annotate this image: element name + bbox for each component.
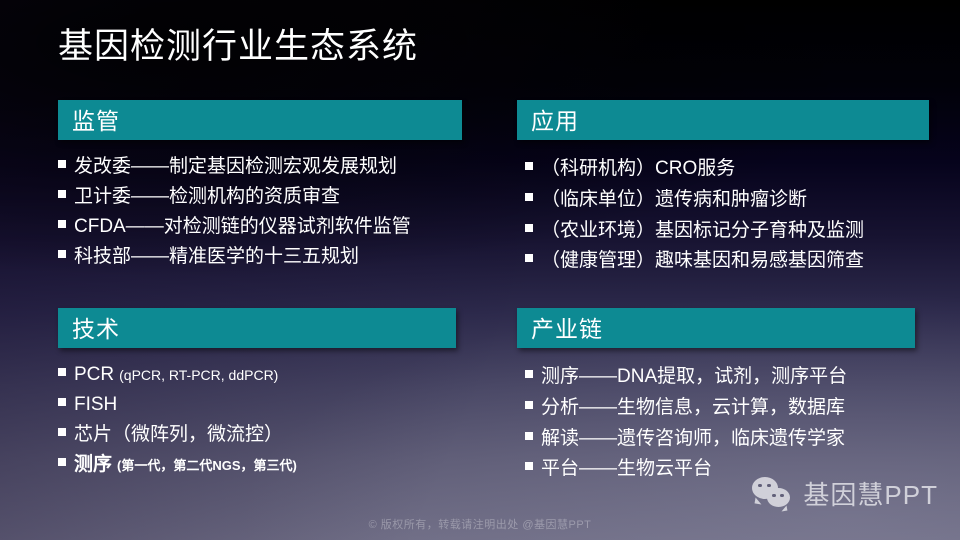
bullet-square-icon bbox=[58, 190, 66, 198]
bullet-square-icon bbox=[525, 462, 533, 470]
list-item: （健康管理）趣味基因和易感基因筛查 bbox=[525, 246, 929, 277]
list-item-text: CFDA——对检测链的仪器试剂软件监管 bbox=[74, 212, 411, 242]
bullet-square-icon bbox=[58, 160, 66, 168]
list-item-text: PCR bbox=[74, 360, 114, 390]
list-item-text: 测序——DNA提取，试剂，测序平台 bbox=[541, 362, 847, 393]
list-item: CFDA——对检测链的仪器试剂软件监管 bbox=[58, 212, 462, 242]
panel-heading-label: 产业链 bbox=[517, 318, 603, 341]
watermark: 基因慧PPT bbox=[752, 475, 938, 512]
bullet-square-icon bbox=[525, 193, 533, 201]
panel-header-industry-chain: 产业链 bbox=[517, 308, 915, 348]
list-item-text: 测序 bbox=[74, 450, 112, 480]
panel-header-regulation: 监管 bbox=[58, 100, 462, 140]
panel-heading-label: 应用 bbox=[517, 110, 579, 133]
list-item: 测序——DNA提取，试剂，测序平台 bbox=[525, 362, 915, 393]
panel-header-technology: 技术 bbox=[58, 308, 456, 348]
list-item: 芯片（微阵列，微流控） bbox=[58, 420, 456, 450]
bullet-square-icon bbox=[525, 224, 533, 232]
bullet-square-icon bbox=[525, 370, 533, 378]
bullet-square-icon bbox=[58, 250, 66, 258]
list-item-text: 分析——生物信息，云计算，数据库 bbox=[541, 393, 845, 424]
list-item: 发改委——制定基因检测宏观发展规划 bbox=[58, 152, 462, 182]
list-item-text: （农业环境）基因标记分子育种及监测 bbox=[541, 216, 864, 247]
panel-application: 应用 （科研机构）CRO服务 （临床单位）遗传病和肿瘤诊断 （农业环境）基因标记… bbox=[517, 100, 929, 277]
bullet-square-icon bbox=[58, 368, 66, 376]
list-item-text: 科技部——精准医学的十三五规划 bbox=[74, 242, 359, 272]
watermark-label: 基因慧PPT bbox=[803, 475, 938, 512]
copyright-footer: © 版权所有，转载请注明出处 @基因慧PPT bbox=[0, 516, 960, 532]
panel-technology: 技术 PCR (qPCR, RT-PCR, ddPCR) FISH 芯片（微阵列… bbox=[58, 308, 456, 480]
panel-regulation: 监管 发改委——制定基因检测宏观发展规划 卫计委——检测机构的资质审查 CFDA… bbox=[58, 100, 462, 272]
list-item-text: FISH bbox=[74, 390, 117, 420]
list-item-text: （健康管理）趣味基因和易感基因筛查 bbox=[541, 246, 864, 277]
list-item: 卫计委——检测机构的资质审查 bbox=[58, 182, 462, 212]
bullet-square-icon bbox=[525, 254, 533, 262]
wechat-icon bbox=[752, 477, 794, 511]
bullet-square-icon bbox=[525, 432, 533, 440]
list-item: （科研机构）CRO服务 bbox=[525, 154, 929, 185]
slide-canvas: 基因检测行业生态系统 监管 发改委——制定基因检测宏观发展规划 卫计委——检测机… bbox=[0, 0, 960, 540]
list-item-text: 发改委——制定基因检测宏观发展规划 bbox=[74, 152, 397, 182]
panel-header-application: 应用 bbox=[517, 100, 929, 140]
list-item: FISH bbox=[58, 390, 456, 420]
bullet-square-icon bbox=[525, 401, 533, 409]
list-item: 解读——遗传咨询师，临床遗传学家 bbox=[525, 424, 915, 455]
panel-industry-chain: 产业链 测序——DNA提取，试剂，测序平台 分析——生物信息，云计算，数据库 解… bbox=[517, 308, 915, 485]
bullet-square-icon bbox=[58, 428, 66, 436]
list-item: （农业环境）基因标记分子育种及监测 bbox=[525, 216, 929, 247]
list-item: PCR (qPCR, RT-PCR, ddPCR) bbox=[58, 360, 456, 390]
list-item: 科技部——精准医学的十三五规划 bbox=[58, 242, 462, 272]
list-item-subtext: (第一代，第二代NGS，第三代) bbox=[117, 456, 297, 477]
list-item: （临床单位）遗传病和肿瘤诊断 bbox=[525, 185, 929, 216]
bullet-square-icon bbox=[525, 162, 533, 170]
list-item-text: 芯片（微阵列，微流控） bbox=[74, 420, 283, 450]
list-item-text: （临床单位）遗传病和肿瘤诊断 bbox=[541, 185, 807, 216]
list-item-text: 解读——遗传咨询师，临床遗传学家 bbox=[541, 424, 845, 455]
bullet-square-icon bbox=[58, 458, 66, 466]
bullet-list-technology: PCR (qPCR, RT-PCR, ddPCR) FISH 芯片（微阵列，微流… bbox=[58, 360, 456, 480]
list-item-text: （科研机构）CRO服务 bbox=[541, 154, 735, 185]
list-item: 分析——生物信息，云计算，数据库 bbox=[525, 393, 915, 424]
list-item-text: 卫计委——检测机构的资质审查 bbox=[74, 182, 340, 212]
list-item-subtext: (qPCR, RT-PCR, ddPCR) bbox=[119, 364, 278, 386]
bullet-square-icon bbox=[58, 220, 66, 228]
bullet-square-icon bbox=[58, 398, 66, 406]
panel-heading-label: 技术 bbox=[58, 318, 120, 341]
bullet-list-industry-chain: 测序——DNA提取，试剂，测序平台 分析——生物信息，云计算，数据库 解读——遗… bbox=[517, 362, 915, 485]
page-title: 基因检测行业生态系统 bbox=[58, 18, 418, 69]
list-item-text: 平台——生物云平台 bbox=[541, 454, 712, 485]
list-item: 测序 (第一代，第二代NGS，第三代) bbox=[58, 450, 456, 480]
bullet-list-regulation: 发改委——制定基因检测宏观发展规划 卫计委——检测机构的资质审查 CFDA——对… bbox=[58, 152, 462, 272]
panel-heading-label: 监管 bbox=[58, 110, 120, 133]
bullet-list-application: （科研机构）CRO服务 （临床单位）遗传病和肿瘤诊断 （农业环境）基因标记分子育… bbox=[517, 154, 929, 277]
